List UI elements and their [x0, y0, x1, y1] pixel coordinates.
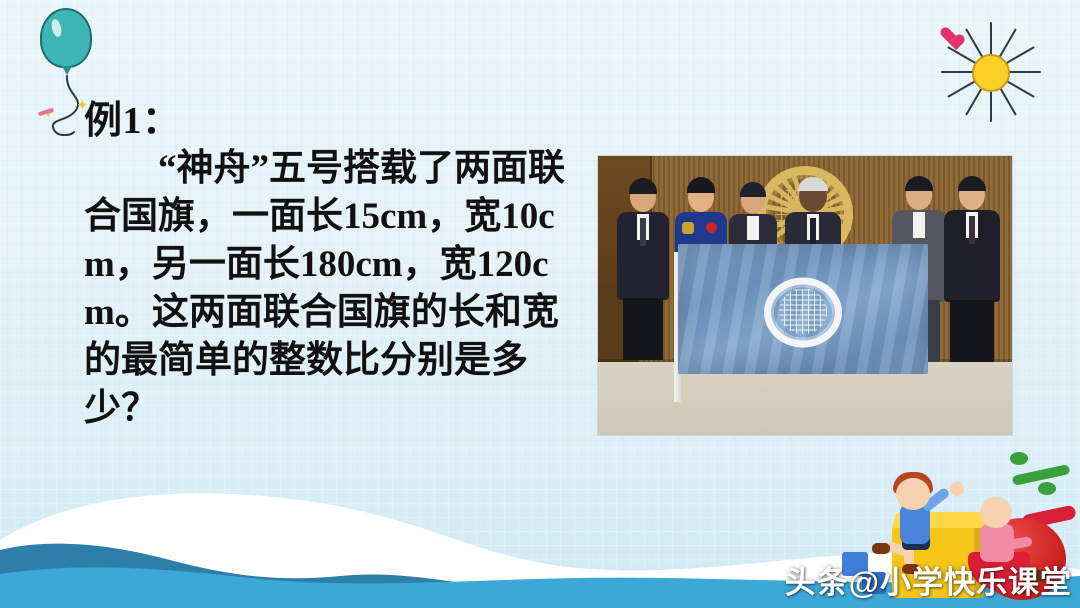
heart-icon [940, 28, 958, 44]
divide-symbol-icon [1008, 450, 1072, 496]
girl-head-icon [980, 497, 1012, 528]
sun-icon [972, 54, 1010, 92]
photo-person [614, 182, 672, 362]
boy-shoe-icon [872, 543, 890, 554]
watermark-text: 头条@小学快乐课堂 [785, 557, 1072, 602]
boy-hand-icon [950, 482, 964, 496]
un-flag [678, 244, 928, 374]
slide-canvas: ✦ ✦ 例1： “神舟”五号搭载了两面联合国旗，一面长15cm，宽10cm，另一… [0, 0, 1080, 608]
boy-head-icon [896, 478, 930, 510]
problem-text-block: 例1： “神舟”五号搭载了两面联合国旗，一面长15cm，宽10cm，另一面长18… [84, 100, 594, 433]
page-title: 例1： [84, 100, 594, 143]
photo-person [942, 178, 1002, 362]
un-flag-photo [597, 155, 1013, 436]
sun-decoration [934, 18, 1054, 128]
problem-statement: “神舟”五号搭载了两面联合国旗，一面长15cm，宽10cm，另一面长180cm，… [84, 145, 594, 434]
un-flag-globe-icon [779, 288, 827, 334]
